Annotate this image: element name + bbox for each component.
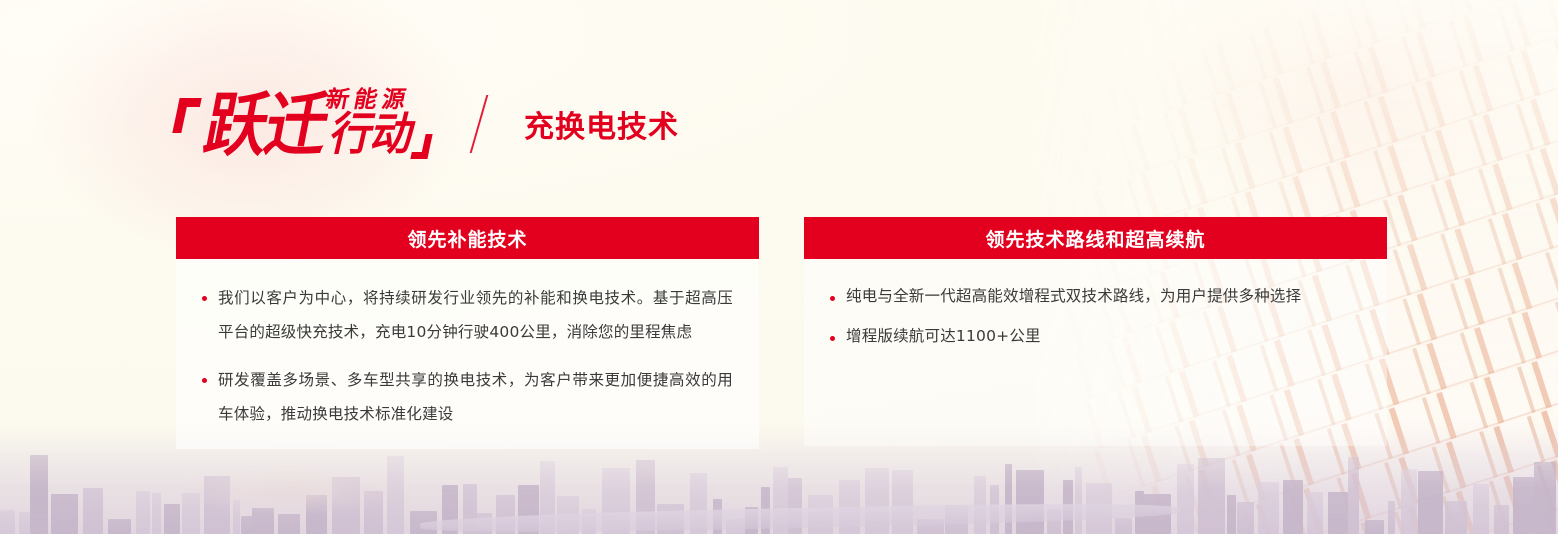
feature-card-list: 领先补能技术 我们以客户为中心，将持续研发行业领先的补能和换电技术。基于超高压平… <box>176 217 1388 449</box>
page-title: 充换电技术 <box>524 102 679 146</box>
bullet-list-charging: 我们以客户为中心，将持续研发行业领先的补能和换电技术。基于超高压平台的超级快充技… <box>196 281 733 431</box>
feature-card-charging: 领先补能技术 我们以客户为中心，将持续研发行业领先的补能和换电技术。基于超高压平… <box>176 217 759 449</box>
logo-sub-bottom-text: 行动 <box>326 112 420 157</box>
logo-secondary-group: 新能源 行动 <box>326 89 410 157</box>
logo-main-text: 跃迁 <box>200 93 332 157</box>
banner-header: 跃迁 新能源 行动 充换电技术 <box>176 72 679 176</box>
logo-main-group: 跃迁 <box>176 98 320 159</box>
card-title-range: 领先技术路线和超高续航 <box>804 217 1387 259</box>
card-title-charging: 领先补能技术 <box>176 217 759 259</box>
diagonal-slash-divider-icon <box>470 95 489 153</box>
card-body-charging: 我们以客户为中心，将持续研发行业领先的补能和换电技术。基于超高压平台的超级快充技… <box>176 259 759 449</box>
feature-card-range: 领先技术路线和超高续航 纯电与全新一代超高能效增程式双技术路线，为用户提供多种选… <box>804 217 1387 449</box>
card-body-range: 纯电与全新一代超高能效增程式双技术路线，为用户提供多种选择 增程版续航可达110… <box>804 259 1387 446</box>
list-item: 我们以客户为中心，将持续研发行业领先的补能和换电技术。基于超高压平台的超级快充技… <box>196 281 733 349</box>
bullet-list-range: 纯电与全新一代超高能效增程式双技术路线，为用户提供多种选择 增程版续航可达110… <box>824 281 1361 351</box>
list-item: 增程版续航可达1100+公里 <box>824 321 1361 351</box>
corner-bracket-icon <box>172 98 201 133</box>
promo-banner: 跃迁 新能源 行动 充换电技术 领先补能技术 我们以客户为中心，将持续研发行业领… <box>0 0 1558 534</box>
closing-bracket-icon <box>410 134 432 159</box>
brand-logo: 跃迁 新能源 行动 <box>176 89 430 159</box>
list-item: 研发覆盖多场景、多车型共享的换电技术，为客户带来更加便捷高效的用车体验，推动换电… <box>196 363 733 431</box>
list-item: 纯电与全新一代超高能效增程式双技术路线，为用户提供多种选择 <box>824 281 1361 311</box>
